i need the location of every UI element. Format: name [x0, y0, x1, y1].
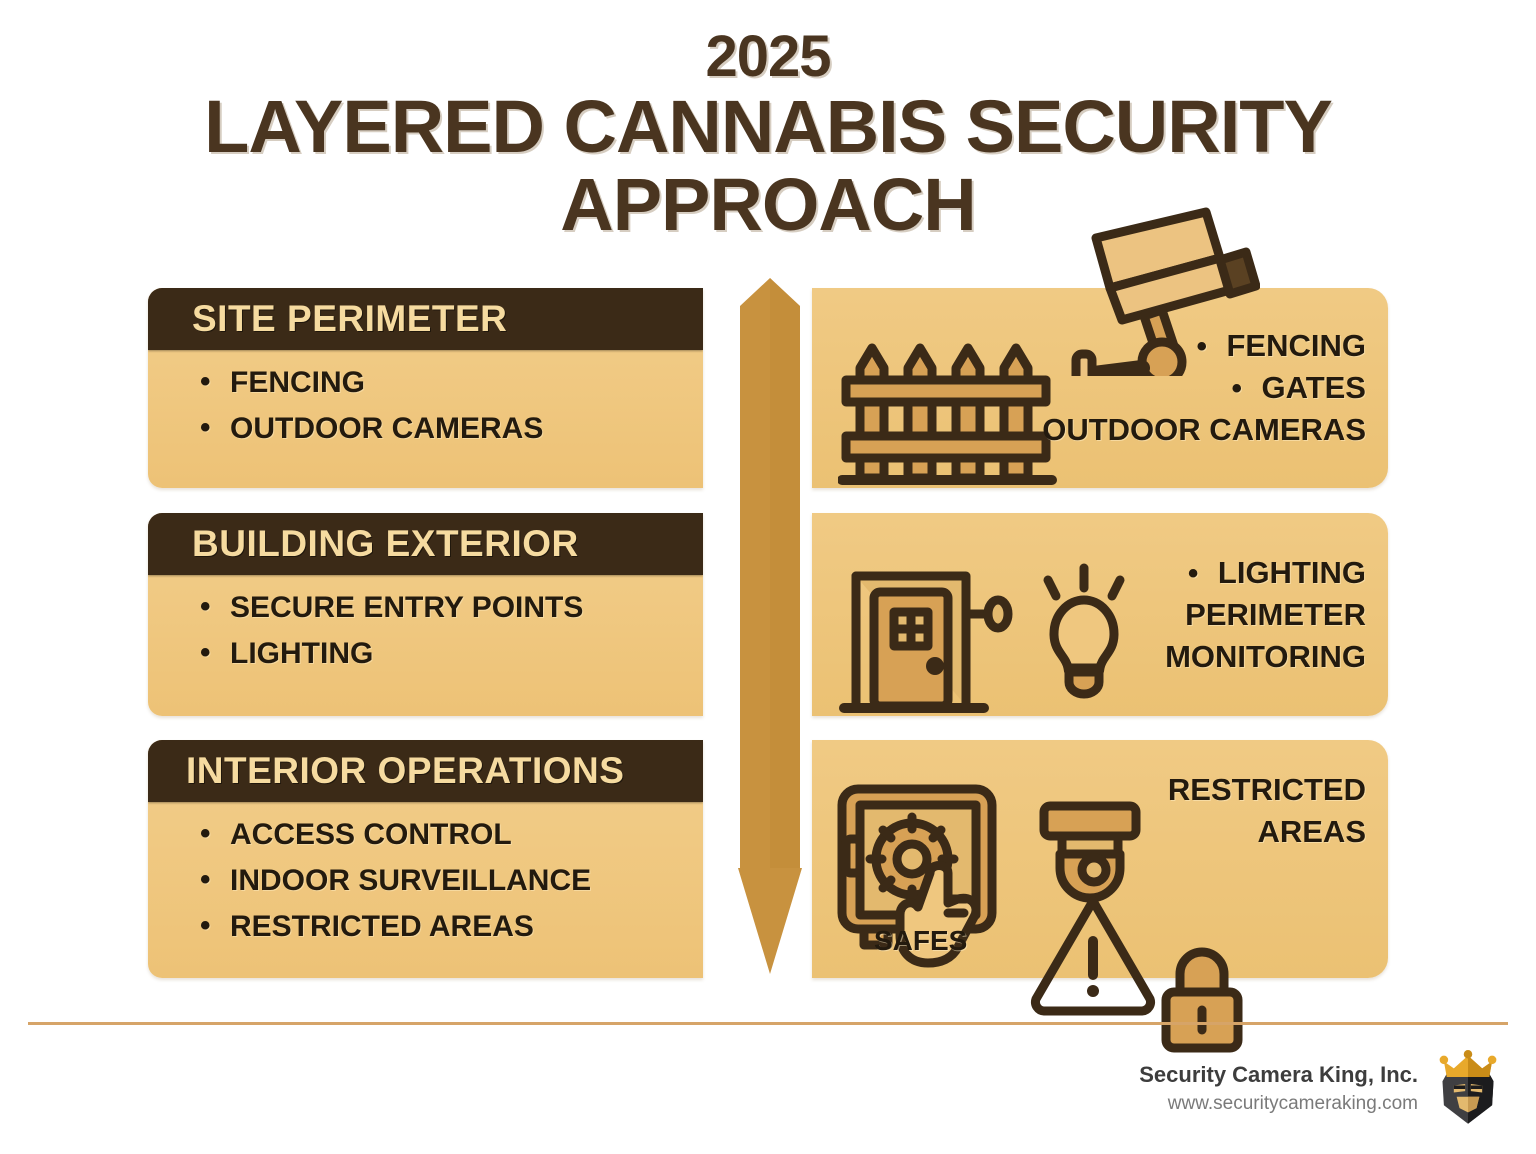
list-item: LIGHTING [200, 631, 703, 677]
page-title: 2025 LAYERED CANNABIS SECURITY APPROACH [0, 26, 1536, 244]
list-item: RESTRICTED AREAS [200, 904, 703, 950]
footer-divider [28, 1022, 1508, 1025]
panel-bullets-3: ACCESS CONTROL INDOOR SURVEILLANCE RESTR… [148, 802, 703, 950]
footer-website-url[interactable]: www.securitycameraking.com [1139, 1090, 1418, 1118]
right-line: AREAS [1257, 814, 1366, 849]
panel-right-text-2: LIGHTING PERIMETER MONITORING [1165, 552, 1366, 678]
panel-heading-bar-2: BUILDING EXTERIOR [148, 513, 703, 575]
footer: Security Camera King, Inc. www.securityc… [1139, 1050, 1504, 1128]
king-crown-logo [1432, 1050, 1504, 1128]
title-year: 2025 [0, 26, 1536, 88]
right-line: MONITORING [1165, 639, 1366, 674]
cctv-camera-icon [1070, 196, 1260, 376]
right-line: OUTDOOR CAMERAS [1042, 412, 1366, 447]
infographic-canvas: 2025 LAYERED CANNABIS SECURITY APPROACH … [0, 0, 1536, 1154]
icon-caption-safes: SAFES [874, 925, 967, 957]
title-main: LAYERED CANNABIS SECURITY APPROACH [0, 88, 1536, 244]
door-key-icon [838, 535, 1023, 738]
panel-left-1: SITE PERIMETER FENCING OUTDOOR CAMERAS [148, 288, 703, 488]
right-line: LIGHTING [1218, 555, 1366, 590]
panel-left-3: INTERIOR OPERATIONS ACCESS CONTROL INDOO… [148, 740, 703, 978]
list-item: ACCESS CONTROL [200, 812, 703, 858]
lightbulb-icon [1024, 533, 1144, 736]
right-line: PERIMETER [1185, 597, 1366, 632]
panel-heading-text-2: BUILDING EXTERIOR [192, 523, 579, 565]
panel-left-2: BUILDING EXTERIOR SECURE ENTRY POINTS LI… [148, 513, 703, 716]
right-line: GATES [1262, 370, 1367, 405]
panel-heading-text-1: SITE PERIMETER [192, 298, 507, 340]
panel-heading-bar-3: INTERIOR OPERATIONS [148, 740, 703, 802]
fence-icon [838, 304, 1058, 504]
panel-right-text-3: RESTRICTED AREAS [1168, 769, 1366, 853]
panel-heading-text-3: INTERIOR OPERATIONS [186, 750, 624, 792]
panel-right-3: SAFES [812, 740, 1388, 978]
list-item: FENCING [200, 360, 703, 406]
panel-heading-bar-1: SITE PERIMETER [148, 288, 703, 350]
panel-bullets-2: SECURE ENTRY POINTS LIGHTING [148, 575, 703, 677]
list-item: INDOOR SURVEILLANCE [200, 858, 703, 904]
right-line: RESTRICTED [1168, 772, 1366, 807]
footer-company-name: Security Camera King, Inc. [1139, 1060, 1418, 1090]
list-item: OUTDOOR CAMERAS [200, 406, 703, 452]
down-arrow-icon [738, 276, 802, 976]
panel-bullets-1: FENCING OUTDOOR CAMERAS [148, 350, 703, 452]
warning-triangle-icon [1028, 832, 1158, 1070]
list-item: SECURE ENTRY POINTS [200, 585, 703, 631]
panel-right-2: LIGHTING PERIMETER MONITORING [812, 513, 1388, 716]
